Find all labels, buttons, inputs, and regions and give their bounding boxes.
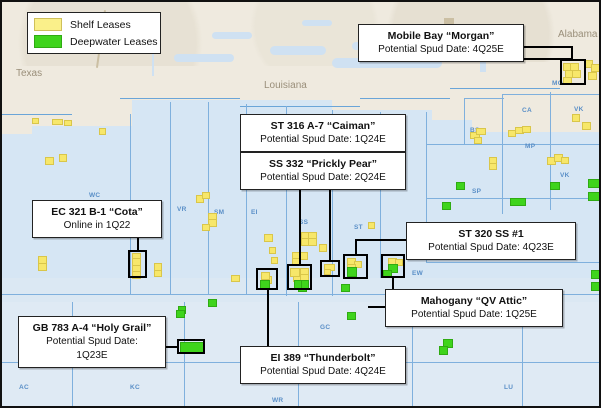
lease-block-deepwater bbox=[341, 284, 350, 292]
coastline-la-2 bbox=[240, 106, 360, 107]
lease-block-shelf bbox=[231, 275, 240, 282]
callout-title: ST 320 SS #1 bbox=[414, 227, 568, 241]
legend-row-deepwater: Deepwater Leases bbox=[34, 33, 154, 50]
callout-mahogany-qv-attic[interactable]: Mahogany “QV Attic” Potential Spud Date:… bbox=[385, 289, 563, 327]
lease-block-shelf bbox=[319, 244, 327, 252]
lease-block-deepwater bbox=[588, 179, 600, 188]
callout-title: Mahogany “QV Attic” bbox=[393, 294, 555, 308]
callout-title: EC 321 B-1 “Cota” bbox=[40, 205, 154, 219]
deepwater-swatch-icon bbox=[34, 35, 62, 48]
area-code-wc: WC bbox=[89, 192, 100, 199]
lease-block-shelf bbox=[269, 247, 276, 254]
callout-ei-389-thunderbolt[interactable]: EI 389 “Thunderbolt” Potential Spud Date… bbox=[240, 346, 406, 384]
callout-subtitle: Potential Spud Date: 4Q25E bbox=[366, 43, 516, 57]
lease-block-shelf bbox=[154, 270, 162, 277]
lease-block-deepwater bbox=[591, 282, 601, 291]
callout-ss-332-prickly-pear[interactable]: SS 332 “Prickly Pear” Potential Spud Dat… bbox=[240, 152, 406, 190]
lease-block-deepwater bbox=[439, 346, 448, 355]
area-code-vk-2: VK bbox=[560, 172, 570, 179]
leader-mobile-bay-h bbox=[523, 58, 573, 60]
area-code-ac: AC bbox=[19, 384, 29, 391]
area-code-ca: CA bbox=[522, 107, 532, 114]
lease-block-shelf bbox=[45, 157, 54, 165]
lease-block-deepwater bbox=[347, 312, 356, 320]
legend-label-deepwater: Deepwater Leases bbox=[70, 36, 158, 48]
lease-block-shelf bbox=[38, 263, 47, 271]
lease-block-shelf bbox=[572, 114, 580, 122]
callout-title: EI 389 “Thunderbolt” bbox=[248, 351, 398, 365]
callout-subtitle-line2: Potential Spud Date: bbox=[26, 335, 158, 349]
grid-line-v10 bbox=[502, 94, 503, 214]
callout-subtitle: Potential Spud Date: 4Q24E bbox=[248, 365, 398, 379]
lease-block-shelf bbox=[202, 224, 210, 231]
area-code-sp: SP bbox=[472, 188, 481, 195]
grid-line-v9 bbox=[464, 98, 465, 144]
callout-mobile-bay-morgan[interactable]: Mobile Bay “Morgan” Potential Spud Date:… bbox=[358, 24, 524, 62]
lease-block-deepwater bbox=[456, 182, 465, 190]
callout-ec-321-cota[interactable]: EC 321 B-1 “Cota” Online in 1Q22 bbox=[32, 200, 162, 238]
coastline-ms bbox=[360, 98, 450, 99]
inland-lake-3 bbox=[302, 20, 332, 26]
leader-ss332-v bbox=[299, 187, 301, 265]
callout-subtitle: Online in 1Q22 bbox=[40, 219, 154, 233]
lease-block-deepwater bbox=[588, 192, 600, 201]
callout-title: GB 783 A-4 “Holy Grail” bbox=[26, 321, 158, 335]
gulf-lease-map: Texas Louisiana Alabama WC VR SM EI SS S… bbox=[0, 0, 601, 408]
shelf-swatch-icon bbox=[34, 18, 62, 31]
lease-block-shelf bbox=[476, 128, 486, 135]
lease-block-shelf bbox=[52, 119, 63, 125]
lease-block-shelf bbox=[489, 163, 497, 170]
lease-block-shelf bbox=[271, 257, 278, 264]
lease-block-shelf bbox=[368, 222, 375, 229]
highlight-holy-grail[interactable] bbox=[177, 339, 205, 354]
leader-st316-v bbox=[329, 187, 331, 261]
lease-block-shelf bbox=[588, 72, 597, 80]
callout-title: Mobile Bay “Morgan” bbox=[366, 29, 516, 43]
callout-subtitle: Potential Spud Date: 4Q23E bbox=[414, 241, 568, 255]
state-label-texas: Texas bbox=[16, 68, 42, 79]
lease-block-deepwater bbox=[510, 198, 526, 206]
area-code-ew: EW bbox=[412, 270, 423, 277]
highlight-ei-389[interactable] bbox=[256, 268, 278, 290]
area-code-st: ST bbox=[354, 224, 363, 231]
lease-block-shelf bbox=[64, 120, 72, 126]
area-code-kc: KC bbox=[130, 384, 140, 391]
lease-block-shelf bbox=[591, 64, 600, 72]
grid-line-h9 bbox=[426, 262, 601, 263]
area-code-wr: WR bbox=[272, 397, 283, 404]
highlight-mahogany[interactable] bbox=[381, 254, 405, 278]
area-code-lu: LU bbox=[504, 384, 513, 391]
callout-subtitle: Potential Spud Date: 1Q24E bbox=[248, 133, 398, 147]
grid-line-v11 bbox=[550, 92, 551, 210]
callout-subtitle: Potential Spud Date: 2Q24E bbox=[248, 171, 398, 185]
leader-ei389-v bbox=[267, 289, 269, 347]
area-code-mp: MP bbox=[525, 143, 535, 150]
grid-line-h6 bbox=[464, 144, 504, 145]
lease-block-shelf bbox=[561, 157, 569, 164]
highlight-mobile-bay[interactable] bbox=[560, 59, 586, 85]
coastline-tx bbox=[0, 114, 72, 115]
lease-block-shelf bbox=[582, 122, 591, 130]
callout-subtitle: Potential Spud Date: 1Q25E bbox=[393, 308, 555, 322]
area-code-vk: VK bbox=[574, 106, 584, 113]
lease-block-shelf bbox=[32, 118, 39, 124]
lease-block-deepwater bbox=[442, 202, 451, 210]
legend-label-shelf: Shelf Leases bbox=[70, 19, 131, 31]
lease-block-shelf bbox=[522, 126, 531, 133]
lease-block-shelf bbox=[308, 238, 317, 246]
grid-line-h3 bbox=[426, 144, 601, 145]
coastline-al bbox=[450, 88, 560, 89]
lease-block-deepwater bbox=[208, 299, 217, 307]
lease-block-shelf bbox=[264, 234, 273, 242]
state-label-louisiana: Louisiana bbox=[264, 80, 307, 91]
callout-st-316-caiman[interactable]: ST 316 A-7 “Caiman” Potential Spud Date:… bbox=[240, 114, 406, 152]
legend-row-shelf: Shelf Leases bbox=[34, 16, 154, 33]
lease-block-shelf bbox=[59, 154, 67, 162]
callout-title: SS 332 “Prickly Pear” bbox=[248, 157, 398, 171]
leader-st320-v bbox=[355, 239, 357, 255]
map-legend: Shelf Leases Deepwater Leases bbox=[27, 12, 161, 54]
highlight-st-320[interactable] bbox=[343, 254, 368, 279]
inland-lake-2 bbox=[270, 46, 326, 55]
lease-block-deepwater bbox=[550, 182, 560, 190]
area-code-gc: GC bbox=[320, 324, 330, 331]
lease-block-shelf bbox=[202, 192, 210, 199]
grid-line-h5 bbox=[464, 98, 504, 99]
lease-block-deepwater bbox=[176, 310, 185, 318]
grid-line-h4 bbox=[502, 94, 601, 95]
leader-mobile-bay-h2 bbox=[523, 46, 573, 48]
lease-block-deepwater bbox=[591, 270, 601, 279]
highlight-ec-321[interactable] bbox=[128, 250, 147, 278]
callout-st-320-ss-1[interactable]: ST 320 SS #1 Potential Spud Date: 4Q23E bbox=[406, 222, 576, 260]
callout-title: ST 316 A-7 “Caiman” bbox=[248, 119, 398, 133]
callout-gb-783-holy-grail[interactable]: GB 783 A-4 “Holy Grail” Potential Spud D… bbox=[18, 316, 166, 368]
callout-subtitle-line3: 1Q23E bbox=[26, 349, 158, 363]
highlight-st-316[interactable] bbox=[320, 260, 340, 277]
area-code-ei: EI bbox=[251, 209, 258, 216]
coastline-la bbox=[120, 98, 240, 99]
area-code-vr: VR bbox=[177, 206, 187, 213]
lease-block-shelf bbox=[474, 137, 482, 144]
leader-holygrail-h bbox=[165, 346, 179, 348]
inland-lake-1 bbox=[212, 32, 252, 39]
leader-mobile-bay-v bbox=[571, 46, 573, 60]
state-label-alabama: Alabama bbox=[558, 29, 597, 40]
inland-lake-4 bbox=[174, 54, 234, 62]
grid-line-v2 bbox=[170, 102, 171, 294]
leader-st320-h bbox=[355, 239, 407, 241]
highlight-ss-332[interactable] bbox=[287, 264, 312, 290]
lease-block-shelf bbox=[99, 128, 106, 135]
